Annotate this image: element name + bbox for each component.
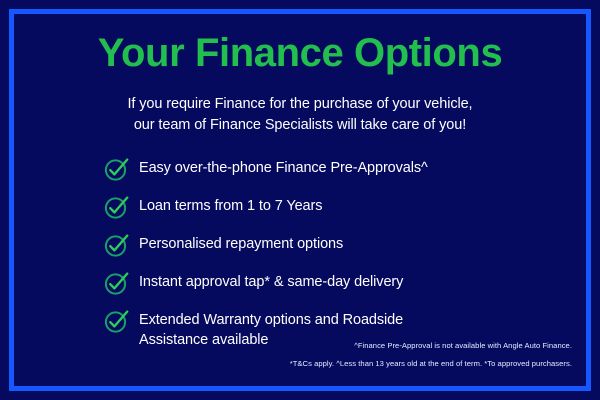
list-item-text: Loan terms from 1 to 7 Years	[139, 198, 322, 214]
subtitle: If you require Finance for the purchase …	[14, 94, 586, 136]
check-circle-icon	[104, 270, 130, 296]
list-item-label: Personalised repayment options	[139, 231, 343, 254]
list-item-label: Instant approval tap* & same-day deliver…	[139, 269, 403, 292]
list-item-label: Easy over-the-phone Finance Pre-Approval…	[139, 155, 428, 178]
feature-list: Easy over-the-phone Finance Pre-Approval…	[104, 155, 546, 361]
list-item-text: Personalised repayment options	[139, 236, 343, 252]
footnote-line-1: ^Finance Pre-Approval is not available w…	[290, 337, 572, 355]
check-circle-icon	[104, 308, 130, 334]
list-item: Loan terms from 1 to 7 Years	[104, 193, 546, 220]
list-item: Easy over-the-phone Finance Pre-Approval…	[104, 155, 546, 182]
list-item: Personalised repayment options	[104, 231, 546, 258]
list-item-text: Easy over-the-phone Finance Pre-Approval…	[139, 160, 428, 176]
list-item-text: Extended Warranty options and Roadside	[139, 312, 403, 328]
check-circle-icon	[104, 232, 130, 258]
subtitle-line-2: our team of Finance Specialists will tak…	[14, 115, 586, 136]
check-circle-icon	[104, 156, 130, 182]
finance-options-banner: Your Finance Options If you require Fina…	[0, 0, 600, 400]
footnote-line-2: *T&Cs apply. ^Less than 13 years old at …	[290, 355, 572, 373]
page-title: Your Finance Options	[14, 33, 586, 73]
subtitle-line-1: If you require Finance for the purchase …	[14, 94, 586, 115]
banner-content: Your Finance Options If you require Fina…	[14, 14, 586, 386]
list-item-text: Instant approval tap* & same-day deliver…	[139, 274, 403, 290]
list-item-label: Loan terms from 1 to 7 Years	[139, 193, 322, 216]
list-item: Instant approval tap* & same-day deliver…	[104, 269, 546, 296]
banner-border-frame: Your Finance Options If you require Fina…	[9, 9, 591, 391]
check-circle-icon	[104, 194, 130, 220]
footnotes: ^Finance Pre-Approval is not available w…	[290, 337, 572, 373]
